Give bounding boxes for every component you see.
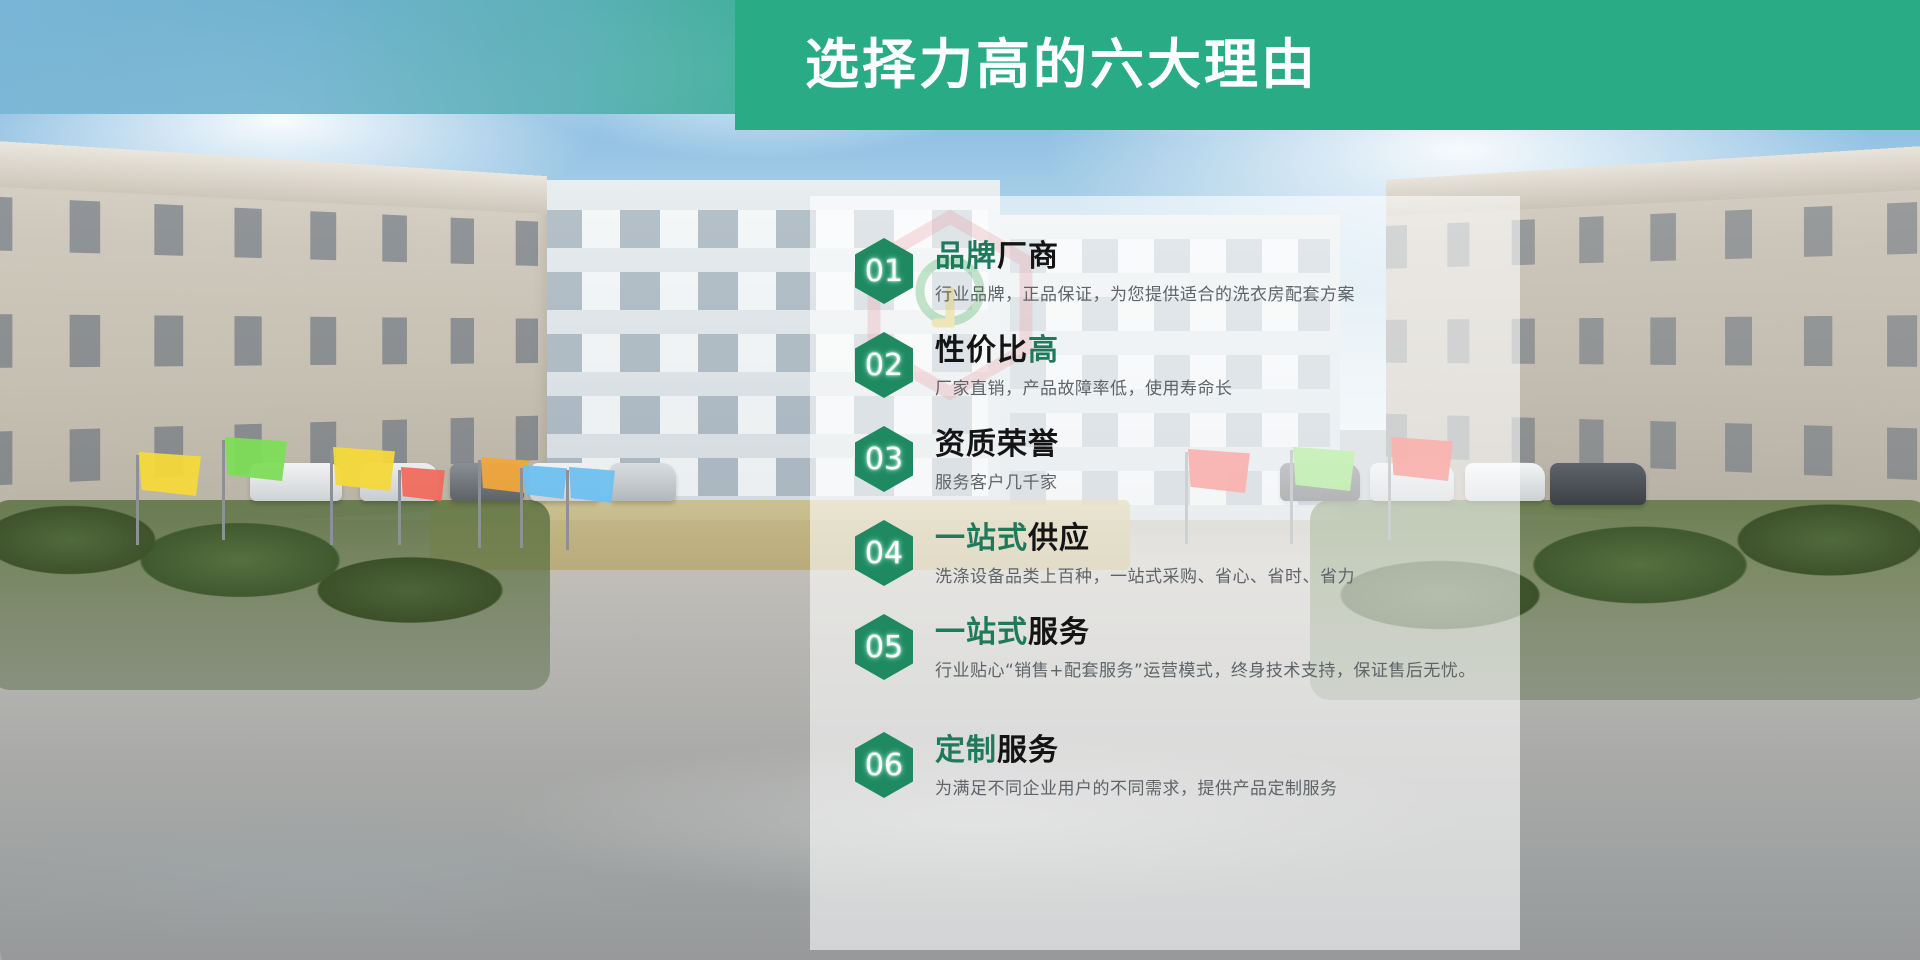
hedge-left — [0, 500, 550, 690]
number-hexagon-icon: 05 — [855, 614, 913, 680]
item-text: 一站式供应 洗涤设备品类上百种，一站式采购、省心、省时、省力 — [935, 520, 1495, 589]
item-title: 性价比高 — [935, 334, 1495, 368]
item-title-green: 一站式 — [935, 521, 1028, 556]
list-item[interactable]: 04 一站式供应 洗涤设备品类上百种，一站式采购、省心、省时、省力 — [855, 520, 1495, 604]
item-description: 行业品牌，正品保证，为您提供适合的洗衣房配套方案 — [935, 283, 1495, 308]
list-item[interactable]: 02 性价比高 厂家直销，产品故障率低，使用寿命长 — [855, 332, 1495, 416]
item-title-dark: 资质荣誉 — [935, 427, 1059, 462]
header-gradient-block — [0, 0, 735, 114]
item-description: 厂家直销，产品故障率低，使用寿命长 — [935, 377, 1495, 402]
car — [1550, 463, 1646, 505]
item-title-dark: 服务 — [997, 733, 1059, 768]
item-number: 03 — [865, 442, 903, 477]
list-item[interactable]: 03 资质荣誉 服务客户几千家 — [855, 426, 1495, 510]
item-text: 品牌厂商 行业品牌，正品保证，为您提供适合的洗衣房配套方案 — [935, 238, 1495, 307]
item-number: 01 — [865, 254, 903, 289]
item-number: 05 — [865, 630, 903, 665]
item-title: 一站式服务 — [935, 616, 1495, 650]
item-number: 02 — [865, 348, 903, 383]
header-title-block: 选择力高的六大理由 — [735, 0, 1920, 130]
item-number: 04 — [865, 536, 903, 571]
list-item[interactable]: 01 品牌厂商 行业品牌，正品保证，为您提供适合的洗衣房配套方案 — [855, 238, 1495, 322]
item-title-dark: 供应 — [1028, 521, 1090, 556]
number-hexagon-icon: 06 — [855, 732, 913, 798]
item-number: 06 — [865, 748, 903, 783]
item-description: 行业贴心“销售+配套服务”运营模式，终身技术支持，保证售后无忧。 — [935, 659, 1495, 684]
number-hexagon-icon: 03 — [855, 426, 913, 492]
item-description: 洗涤设备品类上百种，一站式采购、省心、省时、省力 — [935, 565, 1495, 590]
item-title-green: 定制 — [935, 733, 997, 768]
item-text: 一站式服务 行业贴心“销售+配套服务”运营模式，终身技术支持，保证售后无忧。 — [935, 614, 1495, 683]
item-title-dark: 厂商 — [997, 239, 1059, 274]
number-hexagon-icon: 02 — [855, 332, 913, 398]
item-text: 定制服务 为满足不同企业用户的不同需求，提供产品定制服务 — [935, 732, 1495, 801]
number-hexagon-icon: 01 — [855, 238, 913, 304]
list-item[interactable]: 06 定制服务 为满足不同企业用户的不同需求，提供产品定制服务 — [855, 732, 1495, 816]
item-title-green: 品牌 — [935, 239, 997, 274]
item-description: 服务客户几千家 — [935, 471, 1495, 496]
item-title-green: 一站式 — [935, 615, 1028, 650]
car — [610, 463, 676, 501]
item-description: 为满足不同企业用户的不同需求，提供产品定制服务 — [935, 777, 1495, 802]
reasons-list: 01 品牌厂商 行业品牌，正品保证，为您提供适合的洗衣房配套方案 02 性价比高… — [855, 238, 1495, 826]
header-bar: 选择力高的六大理由 — [0, 0, 1920, 130]
list-item[interactable]: 05 一站式服务 行业贴心“销售+配套服务”运营模式，终身技术支持，保证售后无忧… — [855, 614, 1495, 722]
item-title-green: 高 — [1028, 333, 1059, 368]
promo-banner: 选择力高的六大理由 01 品牌厂商 行业品牌，正品保证，为您提供适合的洗衣房配套… — [0, 0, 1920, 960]
number-hexagon-icon: 04 — [855, 520, 913, 586]
item-text: 性价比高 厂家直销，产品故障率低，使用寿命长 — [935, 332, 1495, 401]
item-title-dark: 服务 — [1028, 615, 1090, 650]
item-title-dark: 性价比 — [935, 333, 1028, 368]
item-title: 品牌厂商 — [935, 240, 1495, 274]
item-title: 定制服务 — [935, 734, 1495, 768]
item-title: 一站式供应 — [935, 522, 1495, 556]
item-title: 资质荣誉 — [935, 428, 1495, 462]
page-title: 选择力高的六大理由 — [805, 38, 1318, 92]
item-text: 资质荣誉 服务客户几千家 — [935, 426, 1495, 495]
